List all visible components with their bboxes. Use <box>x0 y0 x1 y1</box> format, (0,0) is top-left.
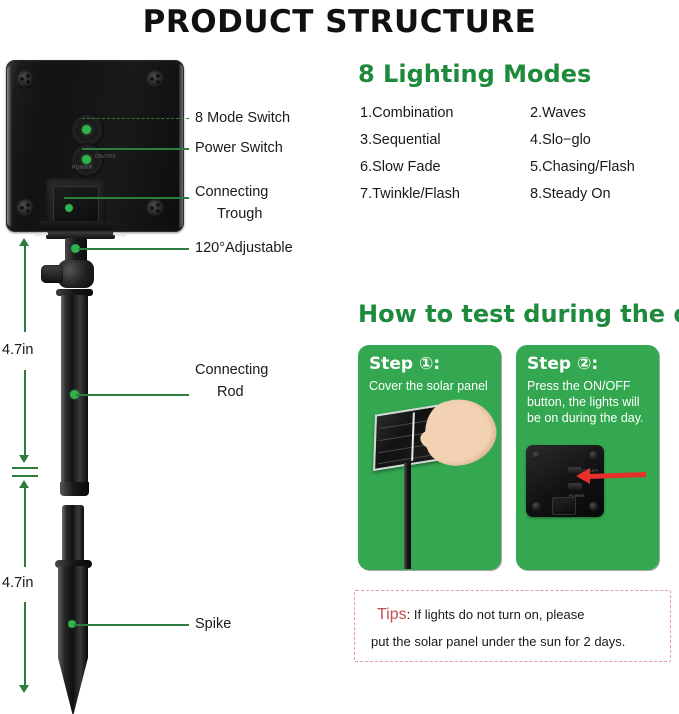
mode-item: 8.Steady On <box>530 186 675 202</box>
dim-line-rod-lower <box>24 370 26 455</box>
callout-label-spike: Spike <box>195 614 231 635</box>
leader-line-power <box>82 148 189 150</box>
red-arrow-head-icon <box>576 468 590 484</box>
dim-arrow-down-spike <box>19 685 29 693</box>
dim-label-spike: 4.7in <box>2 575 33 591</box>
step-card-1: Step ①: Cover the solar panel <box>358 345 501 570</box>
dim-line-spike-upper <box>24 487 26 567</box>
mode-item: 4.Slo−glo <box>530 132 675 148</box>
screw-icon <box>589 502 598 511</box>
red-arrow-shaft-icon <box>588 472 646 479</box>
dim-label-rod: 4.7in <box>2 342 33 358</box>
mode-item: 2.Waves <box>530 105 675 121</box>
spike-shaft <box>62 505 84 563</box>
callout-dot-mode <box>82 125 91 134</box>
power-micro-label: POWER <box>72 165 93 171</box>
power-button[interactable] <box>568 483 582 490</box>
leader-line-adjustable <box>78 248 189 250</box>
screw-icon <box>16 199 35 218</box>
connecting-trough <box>552 497 576 515</box>
joint-knob[interactable] <box>41 265 63 283</box>
dim-tick-lower <box>12 475 38 477</box>
step-1-title: Step ①: <box>369 354 440 374</box>
trough-wing <box>40 221 112 230</box>
callout-dot-power <box>82 155 91 164</box>
panel-pole <box>404 463 411 569</box>
mode-item: 7.Twinkle/Flash <box>360 186 530 202</box>
leader-line-rod <box>76 394 189 396</box>
spike <box>58 566 88 714</box>
callout-label-adjustable: 120°Adjustable <box>195 238 293 259</box>
step-1-body: Cover the solar panel <box>369 378 493 394</box>
callout-label-trough-2: Trough <box>195 204 262 225</box>
lighting-modes-list: 1.Combination 2.Waves 3.Sequential 4.Slo… <box>360 105 675 202</box>
mode-item: 6.Slow Fade <box>360 159 530 175</box>
step-2-illustration: ON/OFF POWER <box>516 435 659 569</box>
tips-label: Tips <box>377 606 407 623</box>
callout-label-rod-2: Rod <box>195 382 244 403</box>
callout-label-power: Power Switch <box>195 138 283 159</box>
right-panel: 8 Lighting Modes 1.Combination 2.Waves 3… <box>340 50 679 670</box>
step-2-body: Press the ON/OFF button, the lights will… <box>527 378 649 426</box>
leader-line-spike <box>74 624 189 626</box>
tips-line-2: put the solar panel under the sun for 2 … <box>371 634 625 649</box>
callout-label-rod: Connecting <box>195 360 268 381</box>
dim-tick-upper <box>12 467 38 469</box>
leader-line-trough <box>64 197 189 199</box>
dim-line-rod-upper <box>24 244 26 332</box>
mode-item: 3.Sequential <box>360 132 530 148</box>
screw-icon <box>589 451 598 460</box>
tips-box: Tips: If lights do not turn on, please p… <box>354 590 671 662</box>
step-2-title: Step ②: <box>527 354 598 374</box>
mode-item: 5.Chasing/Flash <box>530 159 675 175</box>
rod-end <box>60 482 89 496</box>
lighting-modes-heading: 8 Lighting Modes <box>358 60 591 88</box>
screw-icon <box>146 70 165 89</box>
callout-dot-trough <box>65 204 73 212</box>
screw-icon <box>146 199 165 218</box>
callout-label-trough: Connecting <box>195 182 268 203</box>
page-title: PRODUCT STRUCTURE <box>0 0 679 42</box>
step-1-illustration <box>358 401 501 569</box>
mode-item: 1.Combination <box>360 105 530 121</box>
joint-body <box>58 260 94 288</box>
step-card-2: Step ②: Press the ON/OFF button, the lig… <box>516 345 659 570</box>
panel-back-icon: ON/OFF POWER <box>526 445 604 517</box>
product-diagram: ON/OFF POWER <box>0 50 340 670</box>
screw-icon <box>532 502 541 511</box>
screw-icon <box>16 70 35 89</box>
callout-label-mode: 8 Mode Switch <box>195 108 290 129</box>
how-to-test-heading: How to test during the day? <box>358 300 679 328</box>
dim-arrow-down-rod <box>19 455 29 463</box>
leader-line-mode <box>82 118 189 119</box>
tips-text-1: : If lights do not turn on, please <box>407 607 585 622</box>
screw-icon <box>532 451 541 460</box>
tips-line-1: Tips: If lights do not turn on, please <box>377 606 584 624</box>
dim-line-spike-lower <box>24 602 26 685</box>
onoff-micro-label: ON/OFF <box>95 154 116 160</box>
solar-panel-back: ON/OFF POWER <box>6 60 184 232</box>
infographic-page: PRODUCT STRUCTURE ON/OFF POWER <box>0 0 679 670</box>
